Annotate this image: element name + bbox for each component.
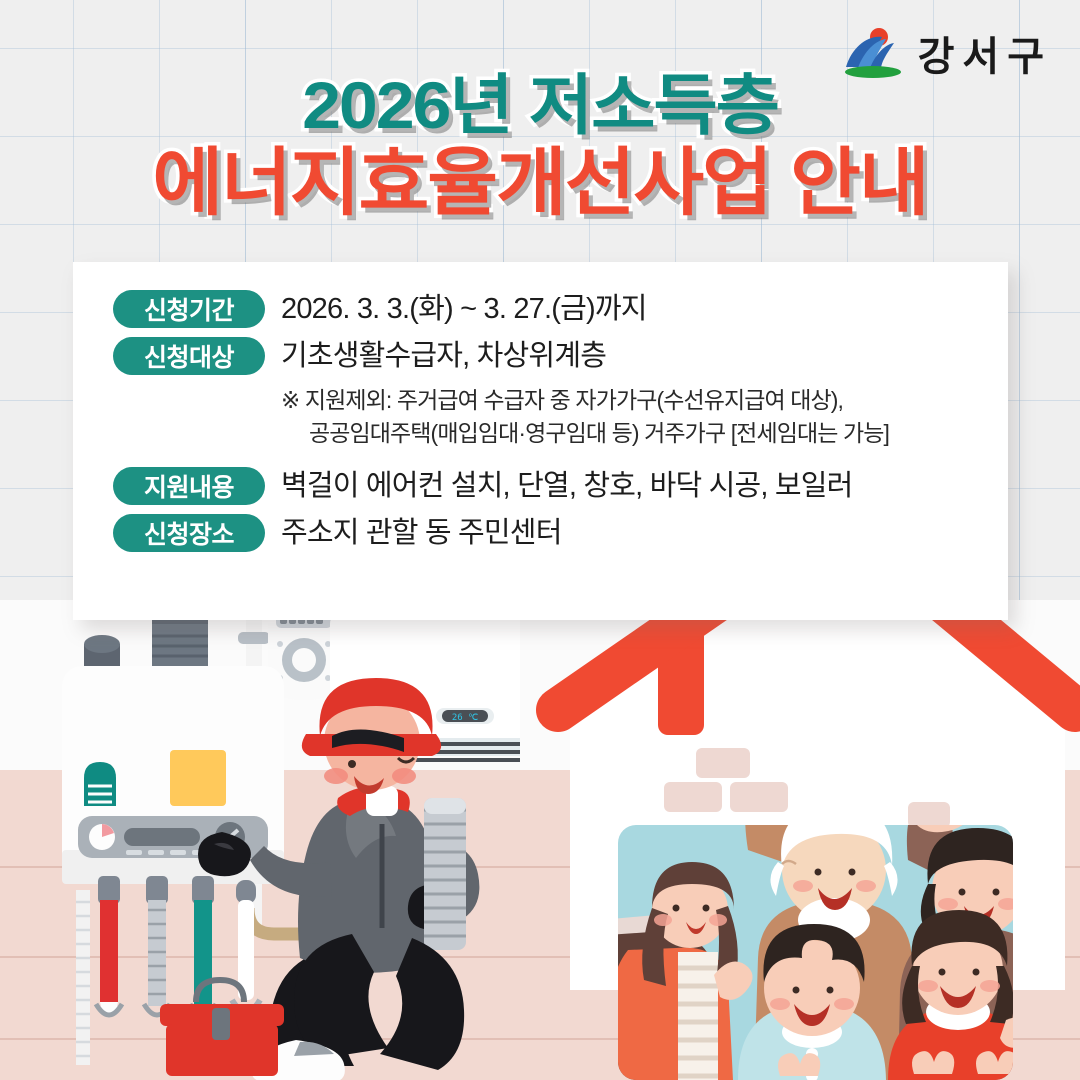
exclusion-note: ※ 지원제외: 주거급여 수급자 중 자가가구(수선유지급여 대상), 공공임대… [281,384,1008,451]
boiler-technician-illustration: 26 ℃ [0,590,520,1080]
exclusion-note-line-1: ※ 지원제외: 주거급여 수급자 중 자가가구(수선유지급여 대상), [281,384,1008,417]
value-application-target: 기초생활수급자, 차상위계층 [281,337,606,375]
label-support-content: 지원내용 [113,467,265,505]
label-application-period: 신청기간 [113,290,265,328]
poster-title: 2026년 저소득층 에너지효율개선사업 안내 [0,72,1080,220]
aircon-temperature-display: 26 ℃ [452,713,478,723]
title-line-2: 에너지효율개선사업 안내 [0,146,1080,220]
value-application-period: 2026. 3. 3.(화) ~ 3. 27.(금)까지 [281,290,647,328]
label-application-place: 신청장소 [113,514,265,552]
info-card: 신청기간 2026. 3. 3.(화) ~ 3. 27.(금)까지 신청대상 기… [73,262,1008,620]
info-row-period: 신청기간 2026. 3. 3.(화) ~ 3. 27.(금)까지 [113,290,1008,328]
exclusion-note-line-2: 공공임대주택(매입임대·영구임대 등) 거주가구 [전세임대는 가능] [281,417,1008,450]
value-support-content: 벽걸이 에어컨 설치, 단열, 창호, 바닥 시공, 보일러 [281,467,853,505]
label-application-target: 신청대상 [113,337,265,375]
info-row-place: 신청장소 주소지 관할 동 주민센터 [113,514,1008,552]
title-line-1: 2026년 저소득층 [0,72,1080,138]
poster-root: 강서구 2026년 저소득층 에너지효율개선사업 안내 [0,0,1080,1080]
info-row-support: 지원내용 벽걸이 에어컨 설치, 단열, 창호, 바닥 시공, 보일러 [113,467,1008,505]
info-row-target: 신청대상 기초생활수급자, 차상위계층 [113,337,1008,375]
value-application-place: 주소지 관할 동 주민센터 [281,514,562,552]
